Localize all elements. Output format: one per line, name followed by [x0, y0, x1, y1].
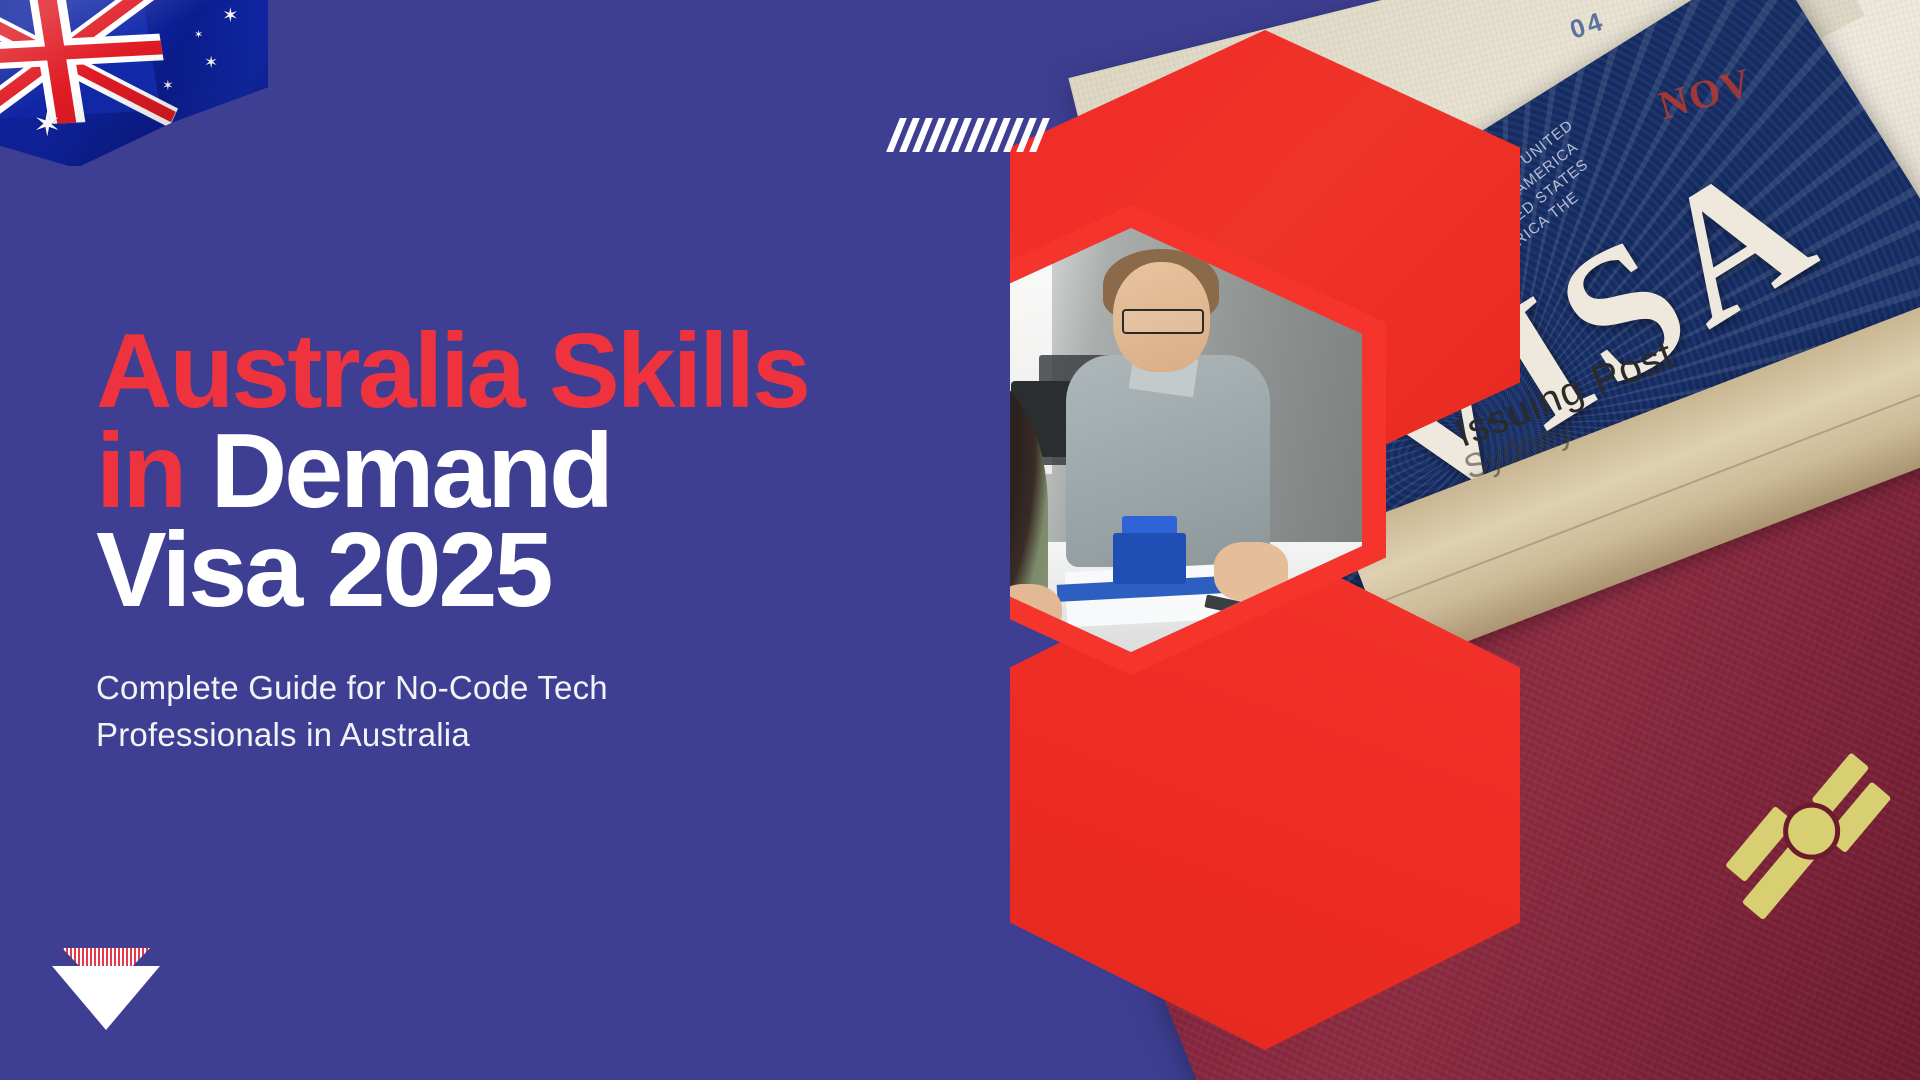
- page-subtitle: Complete Guide for No-Code Tech Professi…: [96, 665, 816, 759]
- subtitle-line-1: Complete Guide for No-Code Tech: [96, 669, 608, 706]
- banner-canvas: AMERICA THE UNITED STATES OF AMERICA THE…: [0, 0, 1920, 1080]
- hero-photo-collage: AMERICA THE UNITED STATES OF AMERICA THE…: [1010, 0, 1920, 1080]
- brand-logo[interactable]: [52, 948, 160, 1034]
- logo-chevron-icon: [52, 966, 160, 1030]
- scene-rubber-stamp: [1113, 533, 1187, 584]
- flag-wave-shading: [0, 0, 268, 166]
- page-title: Australia Skills in Demand Visa 2025: [96, 322, 926, 621]
- eyeglasses-icon: [1122, 309, 1205, 334]
- australian-flag: ✶ ✶ ✶ ✶ ✶ ✶: [0, 0, 268, 166]
- headline-line-3: Visa 2025: [96, 521, 926, 621]
- flag-field: ✶ ✶ ✶ ✶ ✶ ✶: [0, 0, 268, 166]
- headline-block: Australia Skills in Demand Visa 2025 Com…: [96, 322, 926, 759]
- headline-line-2: in Demand: [96, 422, 926, 522]
- diagonal-slashes-decoration: [893, 118, 1058, 152]
- subtitle-line-2: Professionals in Australia: [96, 716, 470, 753]
- passport-emblem-icon: [1696, 717, 1920, 947]
